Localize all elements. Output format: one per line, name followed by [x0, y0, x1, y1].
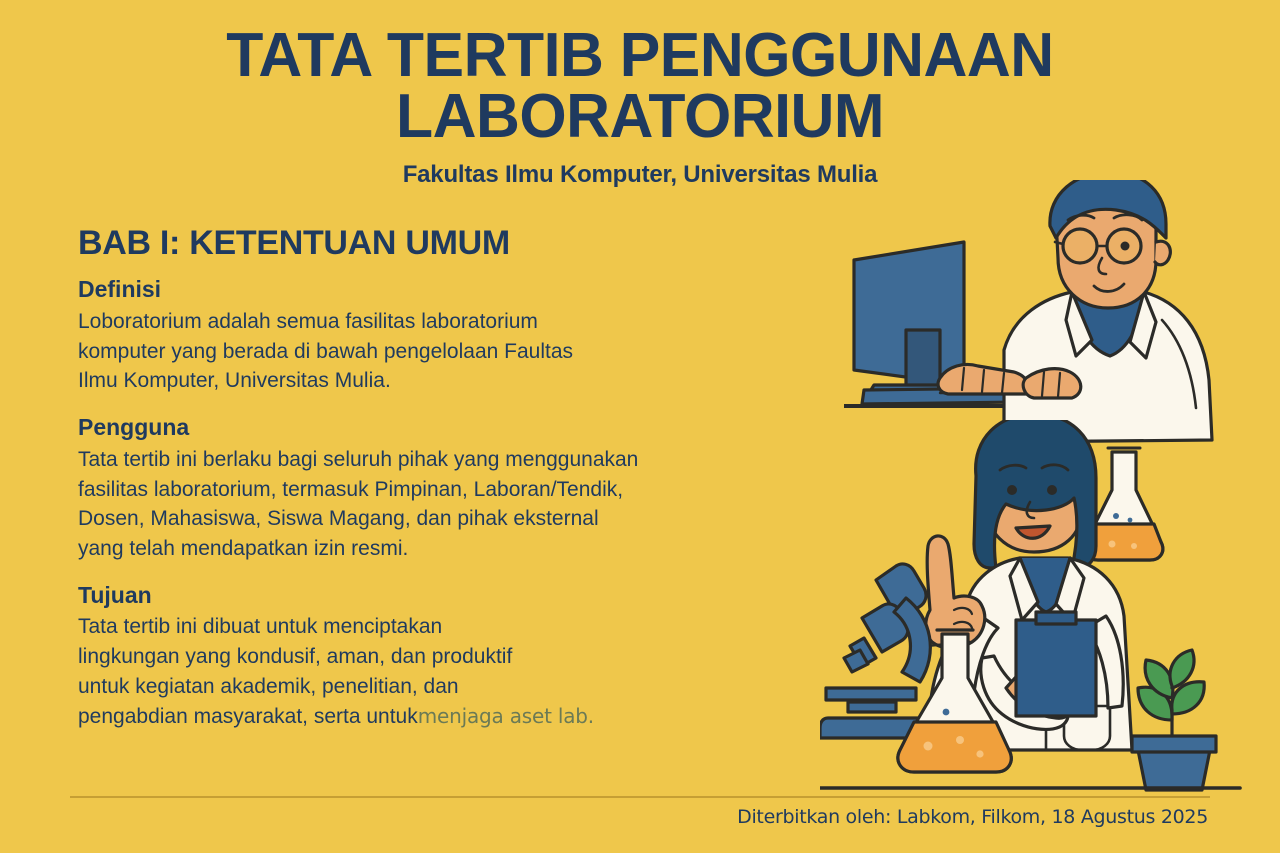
section-title-tujuan: Tujuan [78, 582, 778, 608]
chapter-heading: BAB I: KETENTUAN UMUM [78, 225, 778, 262]
text-line-with-trailing: pengabdian masyarakat, serta untukmenjag… [78, 702, 778, 732]
text-line: untuk kegiatan akademik, penelitian, dan [78, 672, 778, 702]
illustration-female-scientist-lab [820, 420, 1260, 795]
section-title-definisi: Definisi [78, 276, 778, 302]
page-title: TATA TERTIB PENGGUNAAN LABORATORIUM [13, 26, 1267, 148]
text-line: pengabdian masyarakat, serta untuk [78, 705, 418, 728]
text-line: yang telah mendapatkan izin resmi. [78, 534, 778, 564]
footer-divider [70, 796, 1210, 798]
flask-large-icon [898, 630, 1011, 772]
footer-published-by: Diterbitkan oleh: Labkom, Filkom, 18 Agu… [737, 806, 1208, 828]
text-line: Loboratorium adalah semua fasilitas labo… [78, 307, 778, 337]
text-line: Tata tertib ini dibuat untuk menciptakan [78, 612, 778, 642]
section-title-pengguna: Pengguna [78, 414, 778, 440]
poster-header: TATA TERTIB PENGGUNAAN LABORATORIUM Faku… [0, 26, 1280, 188]
trailing-phrase: menjaga aset lab. [418, 704, 594, 728]
section-definisi: Definisi Loboratorium adalah semua fasil… [78, 276, 778, 396]
flask-small-icon [1085, 448, 1163, 560]
page-subtitle: Fakultas Ilmu Komputer, Universitas Muli… [0, 162, 1280, 188]
section-pengguna: Pengguna Tata tertib ini berlaku bagi se… [78, 414, 778, 564]
head [1050, 180, 1170, 308]
text-line: komputer yang berada di bawah pengelolaa… [78, 337, 778, 367]
page-title-line-2: LABORATORIUM [130, 87, 1149, 148]
page-title-line-1: TATA TERTIB PENGGUNAAN [130, 26, 1149, 87]
illustration-male-scientist-at-computer [844, 180, 1264, 460]
lab-coat [956, 558, 1132, 750]
text-line: Dosen, Mahasiswa, Siswa Magang, dan piha… [78, 504, 778, 534]
hands [938, 365, 1081, 399]
microscope-icon [820, 564, 934, 738]
monitor-icon [854, 242, 964, 400]
head [974, 420, 1096, 568]
keyboard-icon [862, 388, 1029, 404]
potted-plant-icon [1132, 650, 1216, 790]
lab-coat [1004, 292, 1212, 442]
text-line: Tata tertib ini berlaku bagi seluruh pih… [78, 445, 778, 475]
section-tujuan: Tujuan Tata tertib ini dibuat untuk menc… [78, 582, 778, 732]
text-line: Ilmu Komputer, Universitas Mulia. [78, 366, 778, 396]
text-line: fasilitas laboratorium, termasuk Pimpina… [78, 475, 778, 505]
section-body-tujuan: Tata tertib ini dibuat untuk menciptakan… [78, 612, 778, 731]
pointing-arm [926, 536, 998, 722]
content-column: BAB I: KETENTUAN UMUM Definisi Loborator… [78, 225, 778, 750]
clipboard-icon [1016, 612, 1096, 716]
section-body-definisi: Loboratorium adalah semua fasilitas labo… [78, 307, 778, 396]
holding-arm [981, 616, 1123, 729]
section-body-pengguna: Tata tertib ini berlaku bagi seluruh pih… [78, 445, 778, 564]
text-line: lingkungan yang kondusif, aman, dan prod… [78, 642, 778, 672]
poster-root: TATA TERTIB PENGGUNAAN LABORATORIUM Faku… [0, 0, 1280, 853]
